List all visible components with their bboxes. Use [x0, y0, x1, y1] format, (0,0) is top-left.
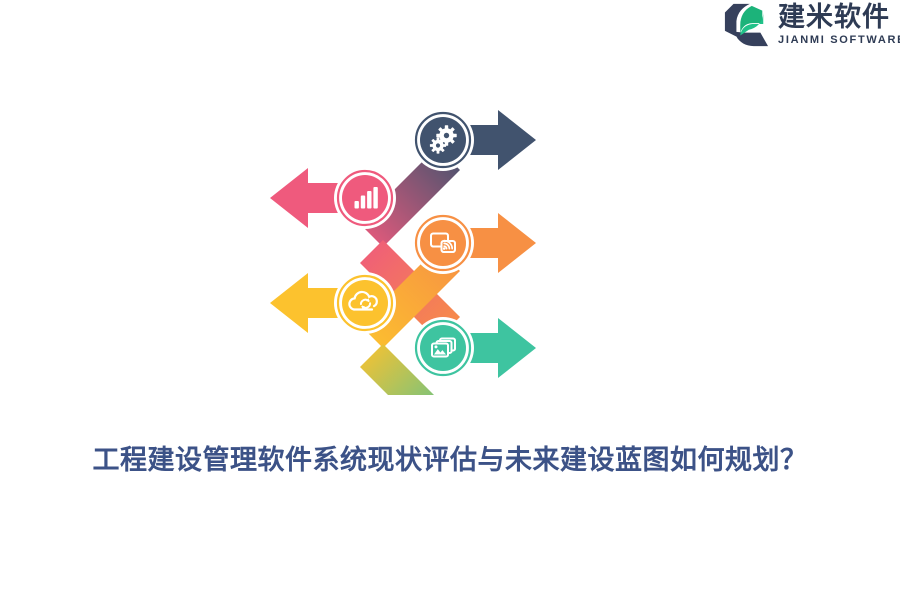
node-5-photo-gallery[interactable] — [412, 317, 474, 379]
page-title: 工程建设管理软件系统现状评估与未来建设蓝图如何规划？ — [0, 440, 900, 482]
process-infographic — [255, 95, 555, 395]
infographic-svg — [255, 95, 555, 395]
brand-name: 建米软件 — [778, 4, 900, 31]
node-3-wireless-display[interactable] — [412, 212, 474, 274]
node-2-bar-chart[interactable] — [334, 167, 396, 229]
node-1-gears[interactable] — [412, 109, 474, 171]
jianmi-logo-mark — [722, 2, 770, 48]
brand-subtitle: JIANMI SOFTWARE — [778, 35, 900, 46]
node-4-cloud-sync[interactable] — [334, 272, 396, 334]
brand-logo[interactable]: 建米软件 JIANMI SOFTWARE — [722, 0, 900, 50]
logo-text-group: 建米软件 JIANMI SOFTWARE — [778, 4, 900, 46]
